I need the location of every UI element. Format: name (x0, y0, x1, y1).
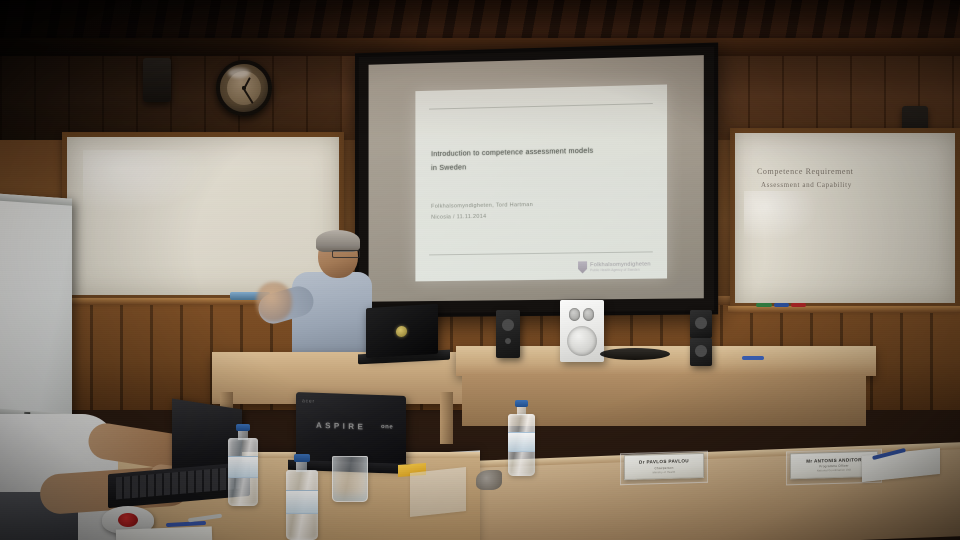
woofer-icon (567, 326, 597, 356)
black-speaker-right-lower (690, 338, 712, 366)
acer-model-word: ASPIRE (316, 421, 366, 432)
name-card-2-org: National Coordination Unit (817, 469, 851, 473)
presenter-hand (256, 282, 292, 322)
bottle-label-1 (228, 456, 258, 478)
keys-on-table (476, 470, 502, 490)
conference-room-photo: Competence Requirement Assessment and Ca… (0, 0, 960, 540)
acer-brand-logo: acer (302, 398, 315, 404)
whiteboard-handwriting-line-2: Assessment and Capability (761, 181, 852, 189)
water-bottle-3 (508, 414, 535, 476)
water-bottle-2 (286, 470, 318, 540)
red-marker-icon (791, 303, 806, 307)
name-card-1: Dr PAVLOS PAVLOU Chairperson Ministry of… (624, 453, 704, 480)
speaker-driver-icon (695, 345, 707, 357)
bottle-label-3 (508, 432, 535, 452)
presenter-torso (292, 272, 372, 364)
whiteboard-right: Competence Requirement Assessment and Ca… (730, 128, 960, 308)
presentation-slide: Introduction to competence assessment mo… (415, 84, 667, 281)
acer-model-suffix: one (381, 424, 393, 430)
speaker-driver-icon (502, 319, 514, 331)
tweeter-left-icon (569, 308, 580, 321)
slide-divider-top (429, 103, 653, 110)
bottle-cap-3 (515, 400, 528, 407)
glasses-icon (332, 250, 360, 258)
whiteboard-right-ledge (728, 306, 960, 313)
drinking-glass (332, 456, 368, 502)
card-holder-foreground (410, 467, 466, 517)
flipchart-easel (0, 193, 72, 420)
name-card-1-name: Dr PAVLOS PAVLOU (639, 459, 689, 465)
wall-clock (216, 60, 272, 116)
slide-logo-subtitle: Public Health Agency of Sweden (590, 268, 651, 273)
tweeter-right-icon (583, 308, 594, 321)
presenter-hair (316, 230, 360, 252)
speaker-port-icon (505, 338, 511, 344)
clock-glass-glare (228, 68, 250, 78)
name-card-1-role: Chairperson (654, 465, 673, 470)
slide-location-date-line: Nicosia / 11.11.2014 (431, 209, 630, 222)
bottle-cap-1 (236, 424, 250, 431)
clock-minute-hand (243, 88, 253, 103)
ceiling-shadow (0, 0, 430, 58)
speaker-driver-icon (695, 317, 707, 329)
bottle-label-2 (286, 490, 318, 514)
projection-screen: Introduction to competence assessment mo… (355, 43, 718, 318)
shield-icon (578, 261, 587, 273)
studio-monitor-speaker (560, 300, 604, 362)
name-card-1-org: Ministry of Health (653, 470, 676, 474)
cable-coil (600, 348, 670, 360)
handout-foreground (116, 526, 212, 540)
clock-center-pin (242, 86, 245, 89)
name-card-2-name: Mr ANTONIS ANDITOR (806, 457, 862, 464)
water-bottle-1 (228, 438, 258, 506)
projection-screen-surface: Introduction to competence assessment mo… (369, 55, 704, 302)
blue-pen-on-table (742, 356, 764, 360)
black-speaker-center (496, 310, 520, 358)
green-marker-icon (756, 303, 772, 307)
blue-marker-icon (774, 303, 789, 307)
bottle-cap-2 (294, 454, 310, 462)
presenter-desk-leg-right (440, 392, 453, 444)
slide-divider-bottom (429, 251, 653, 255)
mouse-indicator-icon (118, 513, 138, 527)
whiteboard-handwriting-line-1: Competence Requirement (757, 167, 854, 176)
whiteboard-left-glare (83, 150, 208, 213)
hp-laptop-lid[interactable] (366, 304, 438, 358)
whiteboard-right-glare (744, 191, 819, 242)
hp-logo-icon (396, 326, 407, 338)
slide-logo: Folkhalsomyndigheten Public Health Agenc… (578, 260, 651, 273)
wall-speaker-left (143, 58, 171, 102)
black-speaker-right-upper (690, 310, 712, 338)
